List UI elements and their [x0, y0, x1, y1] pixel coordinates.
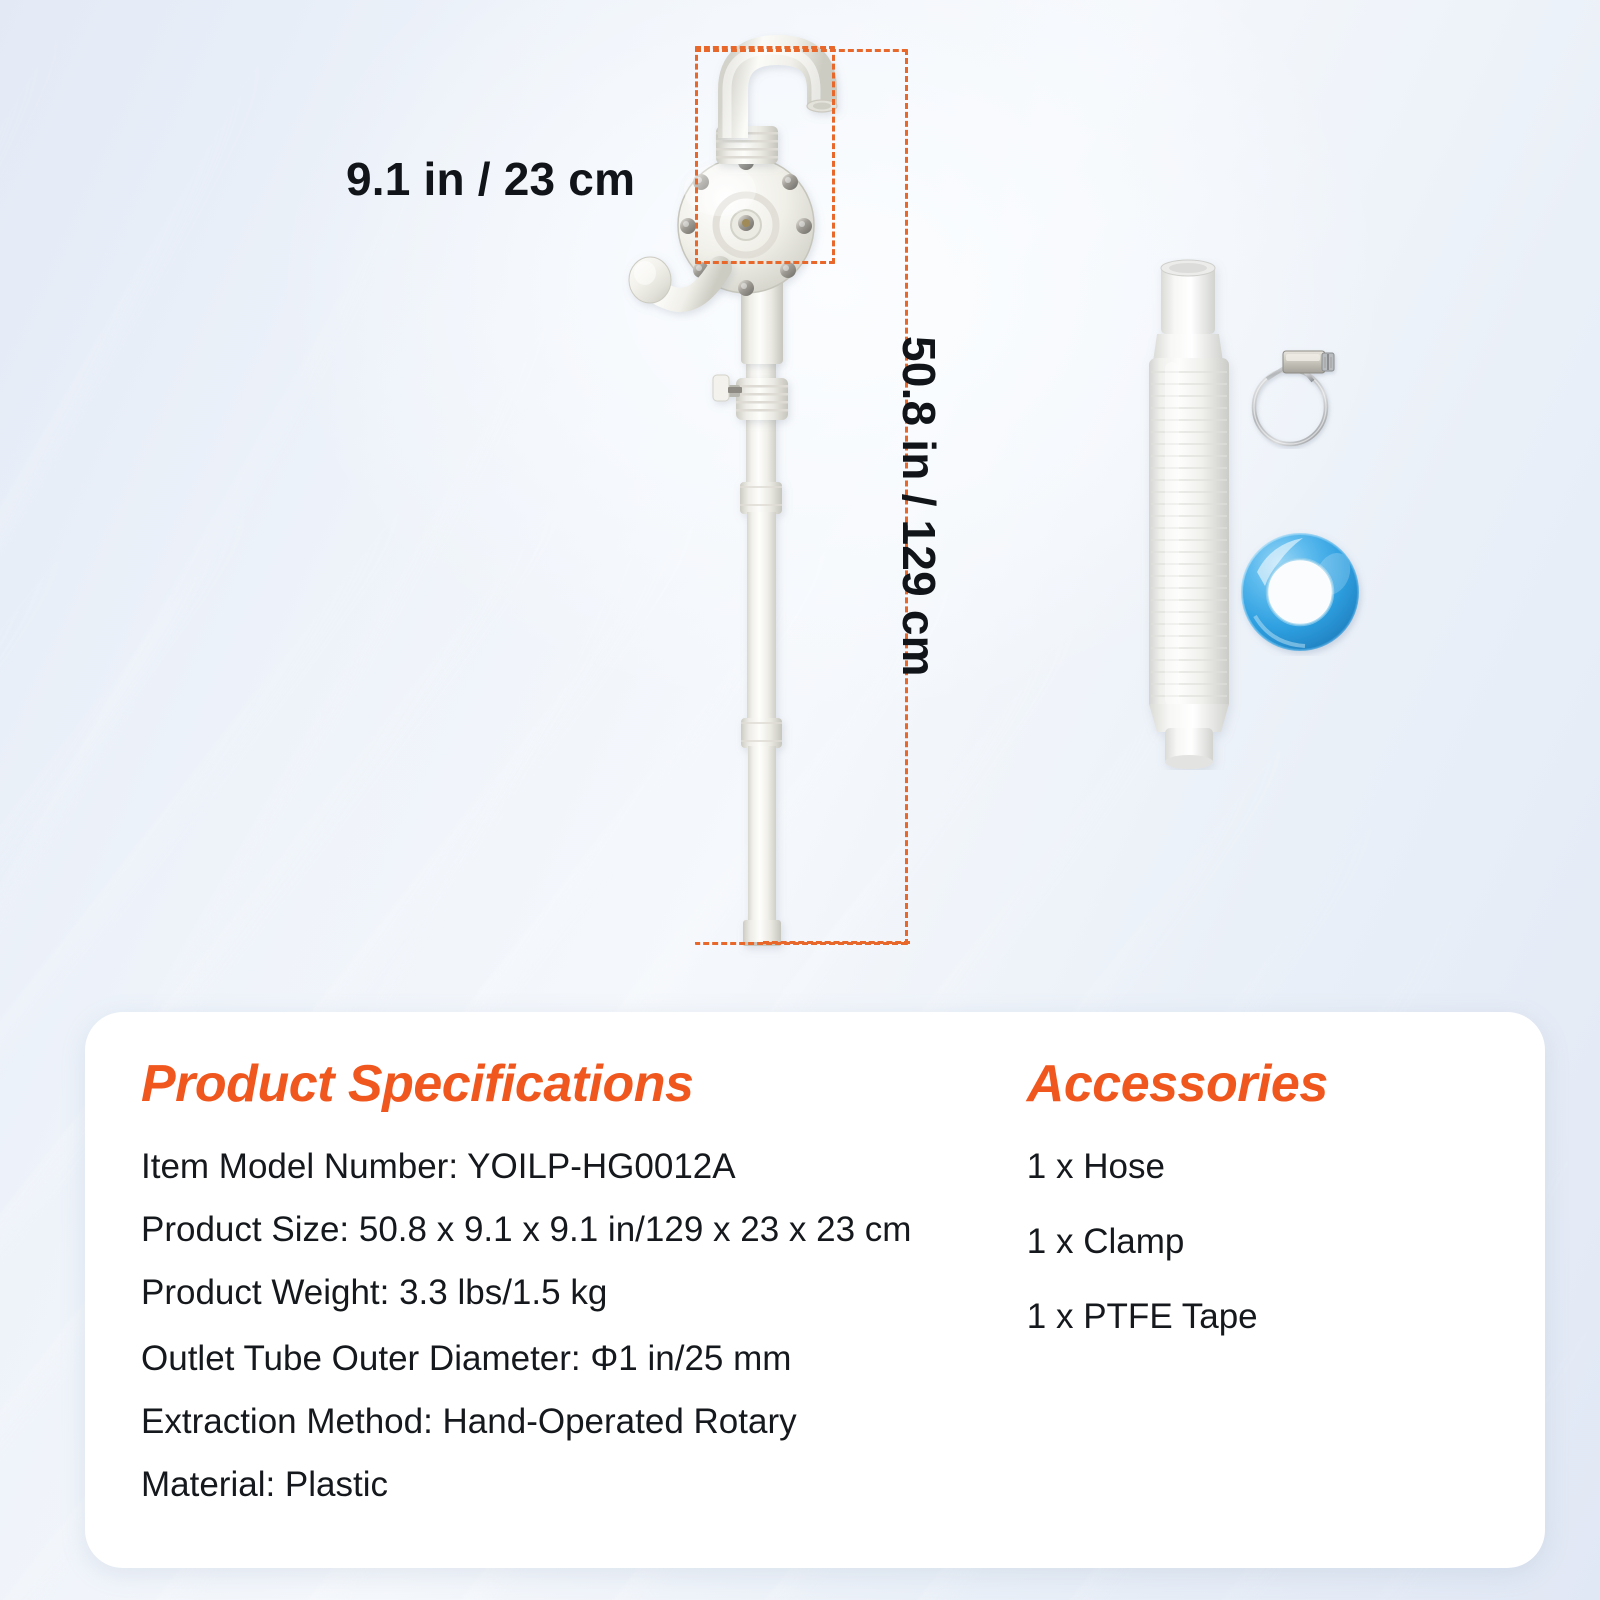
- spec-item-material: Material: Plastic: [141, 1466, 1005, 1504]
- dimension-callout-bottom-line: [763, 941, 910, 944]
- accessory-item-ptfe-tape: 1 x PTFE Tape: [1027, 1298, 1545, 1336]
- spec-item-model-number: Item Model Number: YOILP-HG0012A: [141, 1148, 1005, 1186]
- accessories-heading: Accessories: [1027, 1054, 1545, 1114]
- specifications-list: Item Model Number: YOILP-HG0012A Product…: [141, 1148, 1005, 1504]
- dimension-label-height: 50.8 in / 129 cm: [892, 336, 946, 677]
- specifications-column: Product Specifications Item Model Number…: [85, 1012, 1005, 1568]
- spec-item-outlet-diameter: Outlet Tube Outer Diameter: Φ1 in/25 mm: [141, 1340, 1005, 1378]
- spec-item-product-size: Product Size: 50.8 x 9.1 x 9.1 in/129 x …: [141, 1211, 1005, 1249]
- accessory-item-clamp: 1 x Clamp: [1027, 1223, 1545, 1261]
- accessories-column: Accessories 1 x Hose 1 x Clamp 1 x PTFE …: [1005, 1012, 1545, 1568]
- accessory-image-ptfe-tape: [1237, 528, 1367, 656]
- spec-item-product-weight: Product Weight: 3.3 lbs/1.5 kg: [141, 1274, 1005, 1312]
- accessory-item-hose: 1 x Hose: [1027, 1148, 1545, 1186]
- info-card: Product Specifications Item Model Number…: [85, 1012, 1545, 1568]
- dimension-label-width: 9.1 in / 23 cm: [346, 152, 635, 206]
- accessory-image-clamp: [1243, 341, 1343, 449]
- accessories-list: 1 x Hose 1 x Clamp 1 x PTFE Tape: [1027, 1148, 1545, 1335]
- spec-item-extraction-method: Extraction Method: Hand-Operated Rotary: [141, 1403, 1005, 1441]
- accessory-image-hose: [1135, 258, 1245, 770]
- specifications-heading: Product Specifications: [141, 1054, 1005, 1114]
- dimension-callout-box-full: [695, 49, 908, 945]
